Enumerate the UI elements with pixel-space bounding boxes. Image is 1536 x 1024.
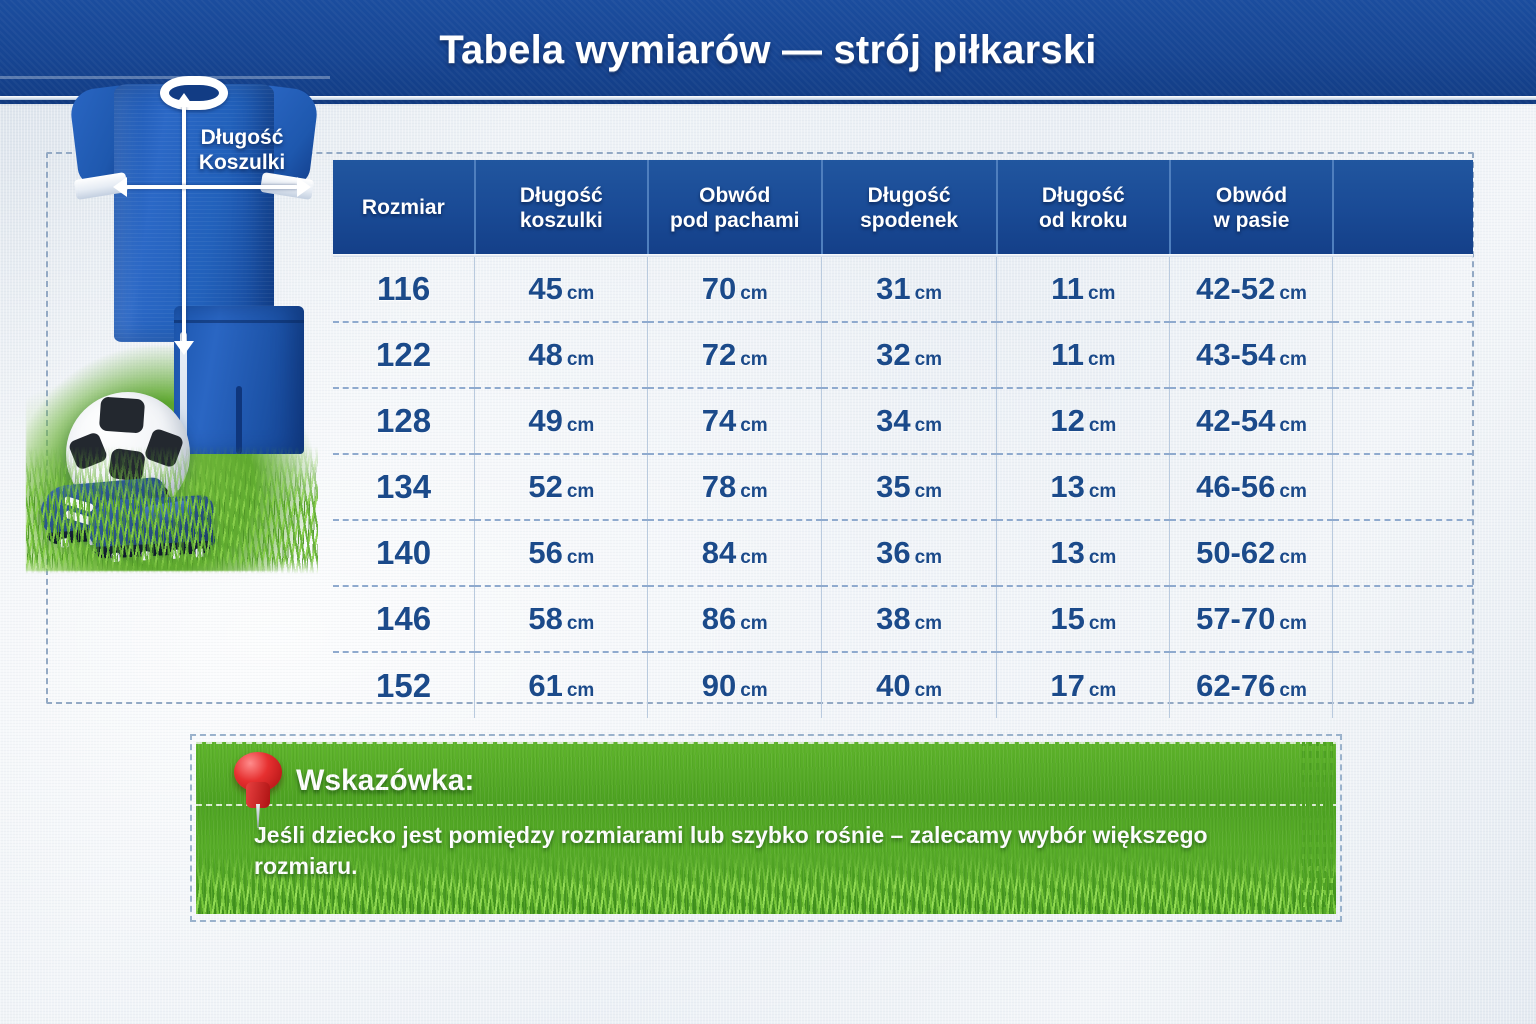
page-title: Tabela wymiarów — strój piłkarski — [0, 28, 1536, 73]
measure-value: 43-54 — [1196, 337, 1275, 372]
cell-shorts-length: 35cm — [822, 454, 997, 520]
cell-waist: 42-54cm — [1170, 388, 1333, 454]
size-table-body: 11645cm70cm31cm11cm42-52cm12248cm72cm32c… — [333, 256, 1473, 718]
jersey-measure-label-line2: Koszulki — [162, 151, 322, 176]
cell-chest: 84cm — [648, 520, 822, 586]
measure-value: 61 — [528, 668, 562, 703]
jersey-measure-label: Długość Koszulki — [162, 126, 322, 176]
tip-banner: Wskazówka: Jeśli dziecko jest pomiędzy r… — [196, 742, 1336, 914]
measure-unit: cm — [740, 547, 767, 568]
column-header-inseam: Długość od kroku — [997, 160, 1170, 256]
measure-unit: cm — [740, 613, 767, 634]
cell-inseam: 13cm — [997, 520, 1170, 586]
tip-dash-top — [196, 742, 1336, 744]
cell-waist: 43-54cm — [1170, 322, 1333, 388]
kit-illustration: Długość Koszulki — [18, 46, 348, 546]
jersey-measure-label-line1: Długość — [162, 126, 322, 151]
measure-unit: cm — [740, 349, 767, 370]
measure-unit: cm — [1279, 349, 1306, 370]
jersey-collar — [160, 76, 228, 110]
measure-unit: cm — [567, 283, 594, 304]
cell-empty — [1333, 388, 1473, 454]
cell-chest: 86cm — [648, 586, 822, 652]
jersey-body — [114, 84, 274, 342]
measure-value: 15 — [1050, 601, 1084, 636]
cell-inseam: 11cm — [997, 256, 1170, 322]
cell-chest: 70cm — [648, 256, 822, 322]
measure-value: 31 — [876, 271, 910, 306]
column-header-size: Rozmiar — [333, 160, 475, 256]
measure-value: 46-56 — [1196, 469, 1275, 504]
measure-unit: cm — [915, 680, 942, 701]
measure-unit: cm — [740, 415, 767, 436]
measure-unit: cm — [740, 680, 767, 701]
measure-unit: cm — [915, 547, 942, 568]
cell-shorts-length: 31cm — [822, 256, 997, 322]
measure-unit: cm — [567, 481, 594, 502]
measure-value: 38 — [876, 601, 910, 636]
cell-shorts-length: 40cm — [822, 652, 997, 718]
measure-value: 32 — [876, 337, 910, 372]
measure-unit: cm — [567, 349, 594, 370]
measure-unit: cm — [1279, 613, 1306, 634]
cell-shirt-length: 58cm — [475, 586, 648, 652]
column-header-chest: Obwód pod pachami — [648, 160, 822, 256]
measure-value: 84 — [702, 535, 736, 570]
size-table-header-row: Rozmiar Długość koszulki Obwód pod pacha… — [333, 160, 1473, 256]
measure-value: 36 — [876, 535, 910, 570]
cell-chest: 90cm — [648, 652, 822, 718]
measure-value: 11 — [1051, 271, 1084, 306]
measure-value: 58 — [528, 601, 562, 636]
cell-empty — [1333, 652, 1473, 718]
table-row: 15261cm90cm40cm17cm62-76cm — [333, 652, 1473, 718]
measure-value: 74 — [702, 403, 736, 438]
measure-value: 42-54 — [1196, 403, 1275, 438]
grass-blades — [26, 446, 318, 574]
cell-empty — [1333, 586, 1473, 652]
measure-unit: cm — [1089, 613, 1116, 634]
measure-value: 72 — [702, 337, 736, 372]
measure-value: 56 — [528, 535, 562, 570]
cell-empty — [1333, 520, 1473, 586]
table-row: 11645cm70cm31cm11cm42-52cm — [333, 256, 1473, 322]
measure-value: 86 — [702, 601, 736, 636]
measure-unit: cm — [567, 680, 594, 701]
cell-shirt-length: 52cm — [475, 454, 648, 520]
measure-unit: cm — [1089, 547, 1116, 568]
measure-unit: cm — [1279, 547, 1306, 568]
measure-value: 13 — [1050, 535, 1084, 570]
cell-chest: 72cm — [648, 322, 822, 388]
measure-value: 45 — [528, 271, 562, 306]
measure-value: 34 — [876, 403, 910, 438]
jersey-icon: Długość Koszulki — [74, 54, 314, 354]
measure-value: 12 — [1050, 403, 1084, 438]
size-table-head: Rozmiar Długość koszulki Obwód pod pacha… — [333, 160, 1473, 256]
tip-text: Jeśli dziecko jest pomiędzy rozmiarami l… — [254, 820, 1304, 882]
cell-shorts-length: 34cm — [822, 388, 997, 454]
measure-value: 90 — [702, 668, 736, 703]
measure-value: 48 — [528, 337, 562, 372]
cell-waist: 46-56cm — [1170, 454, 1333, 520]
table-row: 14056cm84cm36cm13cm50-62cm — [333, 520, 1473, 586]
cell-waist: 57-70cm — [1170, 586, 1333, 652]
cell-inseam: 12cm — [997, 388, 1170, 454]
cell-empty — [1333, 322, 1473, 388]
cell-size: 152 — [333, 652, 475, 718]
measure-unit: cm — [915, 349, 942, 370]
cell-waist: 62-76cm — [1170, 652, 1333, 718]
cell-empty — [1333, 256, 1473, 322]
measure-value: 11 — [1051, 337, 1084, 372]
cell-shirt-length: 45cm — [475, 256, 648, 322]
cell-chest: 74cm — [648, 388, 822, 454]
measure-value: 13 — [1050, 469, 1084, 504]
cell-shorts-length: 36cm — [822, 520, 997, 586]
cell-shorts-length: 38cm — [822, 586, 997, 652]
measure-unit: cm — [1279, 415, 1306, 436]
measure-unit: cm — [740, 283, 767, 304]
table-row: 12248cm72cm32cm11cm43-54cm — [333, 322, 1473, 388]
measure-value: 52 — [528, 469, 562, 504]
measure-unit: cm — [915, 283, 942, 304]
cell-waist: 42-52cm — [1170, 256, 1333, 322]
measure-unit: cm — [1088, 283, 1115, 304]
measure-unit: cm — [1089, 415, 1116, 436]
measure-value: 70 — [702, 271, 736, 306]
cell-shirt-length: 56cm — [475, 520, 648, 586]
column-header-shirt-length: Długość koszulki — [475, 160, 648, 256]
measure-unit: cm — [915, 613, 942, 634]
cell-size: 146 — [333, 586, 475, 652]
cell-inseam: 11cm — [997, 322, 1170, 388]
measure-unit: cm — [1279, 283, 1306, 304]
table-header-underline — [333, 254, 1473, 257]
measure-unit: cm — [915, 481, 942, 502]
size-table: Rozmiar Długość koszulki Obwód pod pacha… — [333, 160, 1473, 718]
measure-value: 57-70 — [1196, 601, 1275, 636]
cell-shirt-length: 61cm — [475, 652, 648, 718]
cell-size: 128 — [333, 388, 475, 454]
shorts-split — [236, 386, 242, 454]
cell-shorts-length: 32cm — [822, 322, 997, 388]
tip-torn-edge — [1302, 742, 1336, 914]
measure-unit: cm — [567, 613, 594, 634]
cell-inseam: 13cm — [997, 454, 1170, 520]
measure-value: 78 — [702, 469, 736, 504]
column-header-waist: Obwód w pasie — [1170, 160, 1333, 256]
pushpin-needle — [256, 804, 260, 828]
measure-unit: cm — [1279, 481, 1306, 502]
measure-value: 35 — [876, 469, 910, 504]
shorts-icon — [174, 306, 304, 454]
measure-value: 42-52 — [1196, 271, 1275, 306]
measure-unit: cm — [567, 415, 594, 436]
cell-size: 116 — [333, 256, 475, 322]
table-row: 14658cm86cm38cm15cm57-70cm — [333, 586, 1473, 652]
measure-unit: cm — [915, 415, 942, 436]
cell-shirt-length: 48cm — [475, 322, 648, 388]
measure-value: 62-76 — [1196, 668, 1275, 703]
measure-unit: cm — [740, 481, 767, 502]
measure-unit: cm — [1279, 680, 1306, 701]
cell-chest: 78cm — [648, 454, 822, 520]
cell-size: 134 — [333, 454, 475, 520]
cell-empty — [1333, 454, 1473, 520]
arrow-horizontal-icon — [126, 185, 298, 189]
measure-unit: cm — [1088, 349, 1115, 370]
tip-title: Wskazówka: — [296, 764, 474, 798]
ball-panel — [99, 397, 145, 434]
cell-inseam: 17cm — [997, 652, 1170, 718]
measure-value: 17 — [1050, 668, 1084, 703]
cell-size: 122 — [333, 322, 475, 388]
measure-unit: cm — [1089, 481, 1116, 502]
measure-value: 49 — [528, 403, 562, 438]
tip-dash-mid — [196, 804, 1336, 806]
measure-value: 40 — [876, 668, 910, 703]
cell-size: 140 — [333, 520, 475, 586]
pushpin-icon — [228, 742, 290, 828]
table-row: 13452cm78cm35cm13cm46-56cm — [333, 454, 1473, 520]
table-row: 12849cm74cm34cm12cm42-54cm — [333, 388, 1473, 454]
cell-shirt-length: 49cm — [475, 388, 648, 454]
cell-inseam: 15cm — [997, 586, 1170, 652]
column-header-empty — [1333, 160, 1473, 256]
measure-unit: cm — [1089, 680, 1116, 701]
cell-waist: 50-62cm — [1170, 520, 1333, 586]
measure-value: 50-62 — [1196, 535, 1275, 570]
column-header-shorts-length: Długość spodenek — [822, 160, 997, 256]
measure-unit: cm — [567, 547, 594, 568]
